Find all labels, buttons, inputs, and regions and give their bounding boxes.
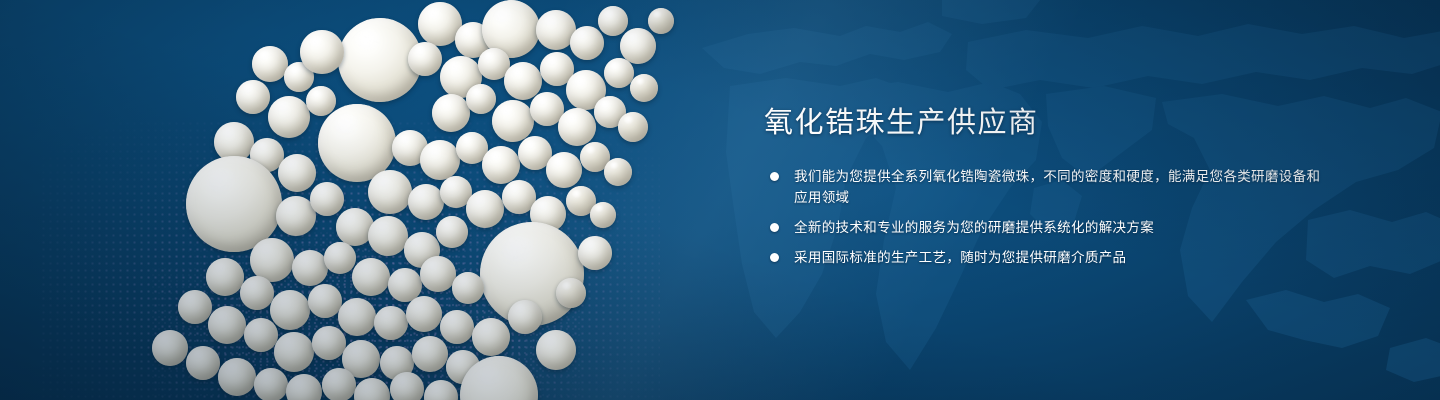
background-corner-shading — [0, 0, 1440, 400]
hero-banner: 氧化锆珠生产供应商 我们能为您提供全系列氧化锆陶瓷微珠，不同的密度和硬度，能满足… — [0, 0, 1440, 400]
